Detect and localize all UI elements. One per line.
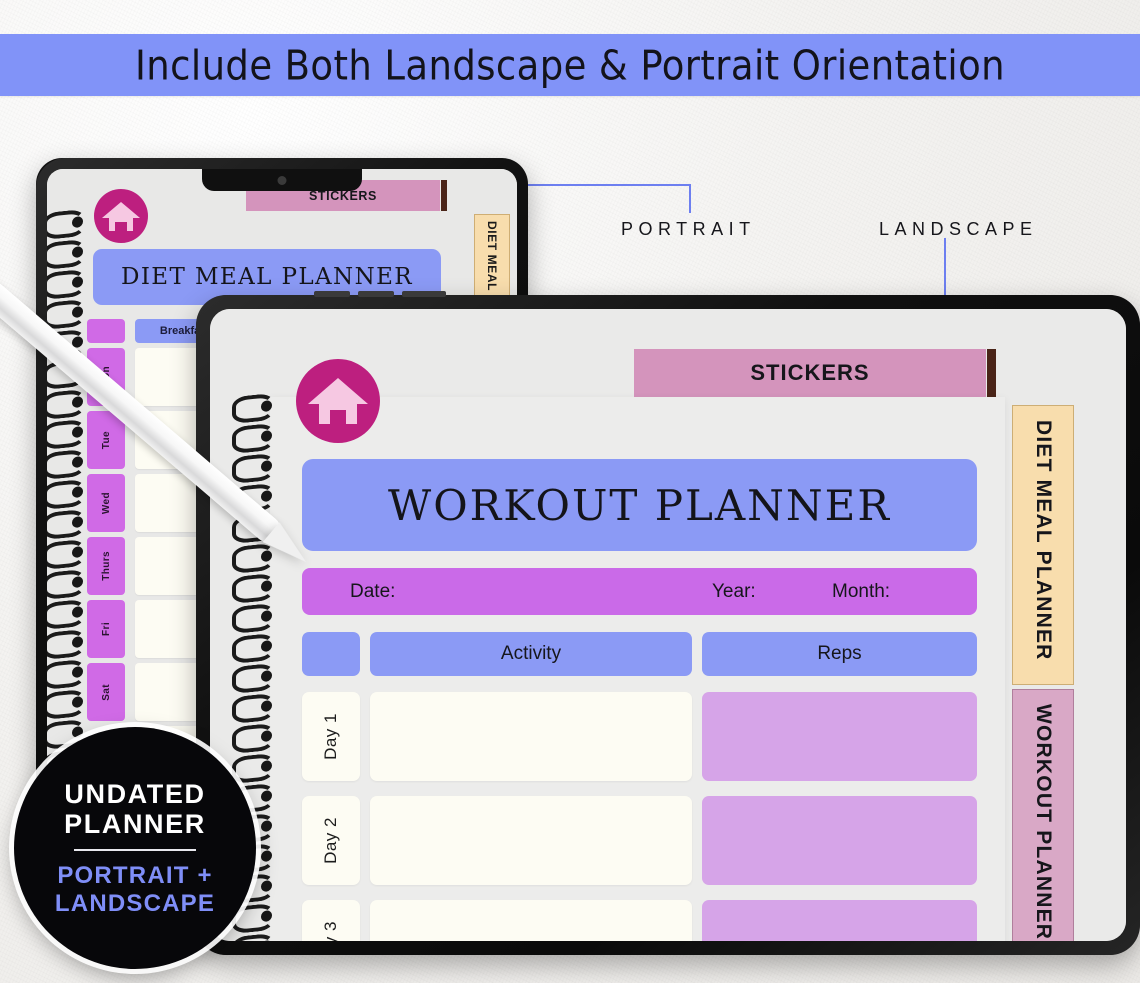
row-activity-cell[interactable]	[370, 900, 692, 941]
table-header-reps: Reps	[702, 632, 977, 676]
side-tab-diet-meal-planner[interactable]: DIET MEAL PLANNER	[1012, 405, 1074, 685]
row-day-label: Day 1	[302, 692, 360, 781]
date-label: Date:	[350, 581, 395, 603]
badge-line-4: LANDSCAPE	[55, 890, 215, 917]
portrait-day-label: Mon	[101, 366, 112, 388]
landscape-page: STICKERS WORKOUT PLANNER Date: Year: Mon…	[210, 309, 1126, 941]
portrait-day-chip[interactable]: Tue	[87, 411, 125, 469]
volume-down-button[interactable]	[358, 291, 394, 297]
landscape-stickers-label: STICKERS	[634, 349, 986, 397]
badge-line-2: PLANNER	[64, 809, 206, 839]
landscape-stickers-tab[interactable]: STICKERS	[634, 349, 986, 397]
callout-portrait: PORTRAIT	[621, 219, 756, 240]
month-label: Month:	[832, 581, 890, 603]
top-banner: Include Both Landscape & Portrait Orient…	[0, 34, 1140, 96]
table-header-corner	[302, 632, 360, 676]
poster-canvas: Include Both Landscape & Portrait Orient…	[0, 0, 1140, 983]
undated-planner-badge: UNDATED PLANNER PORTRAIT + LANDSCAPE	[14, 727, 256, 969]
row-reps-cell[interactable]	[702, 900, 977, 941]
row-day-label: Day 3	[302, 900, 360, 941]
landscape-page-title: WORKOUT PLANNER	[302, 459, 977, 551]
home-icon[interactable]	[94, 189, 148, 243]
side-tab-workout-planner[interactable]: WORKOUT PLANNER	[1012, 689, 1074, 941]
callout-landscape: LANDSCAPE	[879, 219, 1038, 240]
row-day-text: Day 3	[321, 921, 341, 941]
row-activity-cell[interactable]	[370, 796, 692, 885]
volume-up-button[interactable]	[314, 291, 350, 297]
portrait-day-label: Sat	[101, 684, 112, 701]
landscape-page-title-text: WORKOUT PLANNER	[388, 481, 891, 530]
portrait-day-column: Mon Tue Wed Thurs Fri Sat	[87, 319, 125, 726]
row-activity-cell[interactable]	[370, 692, 692, 781]
portrait-day-chip[interactable]: Mon	[87, 348, 125, 406]
landscape-screen: STICKERS WORKOUT PLANNER Date: Year: Mon…	[210, 309, 1126, 941]
portrait-day-chip[interactable]: Sat	[87, 663, 125, 721]
power-button[interactable]	[402, 291, 446, 297]
row-day-label: Day 2	[302, 796, 360, 885]
row-reps-cell[interactable]	[702, 796, 977, 885]
landscape-meta-bar: Date: Year: Month:	[302, 568, 977, 615]
portrait-page-title-text: DIET MEAL PLANNER	[121, 264, 413, 290]
year-label: Year:	[712, 581, 756, 603]
portrait-day-label: Thurs	[101, 551, 112, 581]
row-day-text: Day 2	[321, 817, 341, 864]
banner-text: Include Both Landscape & Portrait Orient…	[135, 41, 1005, 88]
portrait-day-chip[interactable]: Fri	[87, 600, 125, 658]
portrait-leader-vertical	[689, 184, 691, 213]
row-day-text: Day 1	[321, 713, 341, 760]
landscape-table-header-row: Activity Reps	[302, 632, 977, 676]
portrait-day-spacer	[87, 319, 125, 343]
portrait-notch	[202, 169, 362, 191]
table-header-activity: Activity	[370, 632, 692, 676]
table-header-activity-text: Activity	[501, 643, 561, 665]
badge-line-1: UNDATED	[64, 779, 205, 809]
portrait-day-label: Wed	[101, 492, 112, 514]
badge-line-3: PORTRAIT +	[57, 862, 212, 889]
portrait-day-label: Tue	[101, 431, 112, 449]
front-camera-icon	[278, 176, 287, 185]
portrait-day-chip[interactable]: Wed	[87, 474, 125, 532]
side-tab-diet-label: DIET MEAL PLANNER	[1031, 420, 1055, 661]
badge-divider	[74, 849, 196, 851]
portrait-day-label: Fri	[101, 622, 112, 636]
table-header-reps-text: Reps	[817, 643, 861, 665]
home-icon[interactable]	[296, 359, 380, 443]
portrait-day-chip[interactable]: Thurs	[87, 537, 125, 595]
side-tab-workout-label: WORKOUT PLANNER	[1031, 704, 1055, 940]
row-reps-cell[interactable]	[702, 692, 977, 781]
landscape-tablet: STICKERS WORKOUT PLANNER Date: Year: Mon…	[196, 295, 1140, 955]
portrait-stickers-spine	[441, 180, 447, 211]
landscape-stickers-spine	[987, 349, 996, 397]
